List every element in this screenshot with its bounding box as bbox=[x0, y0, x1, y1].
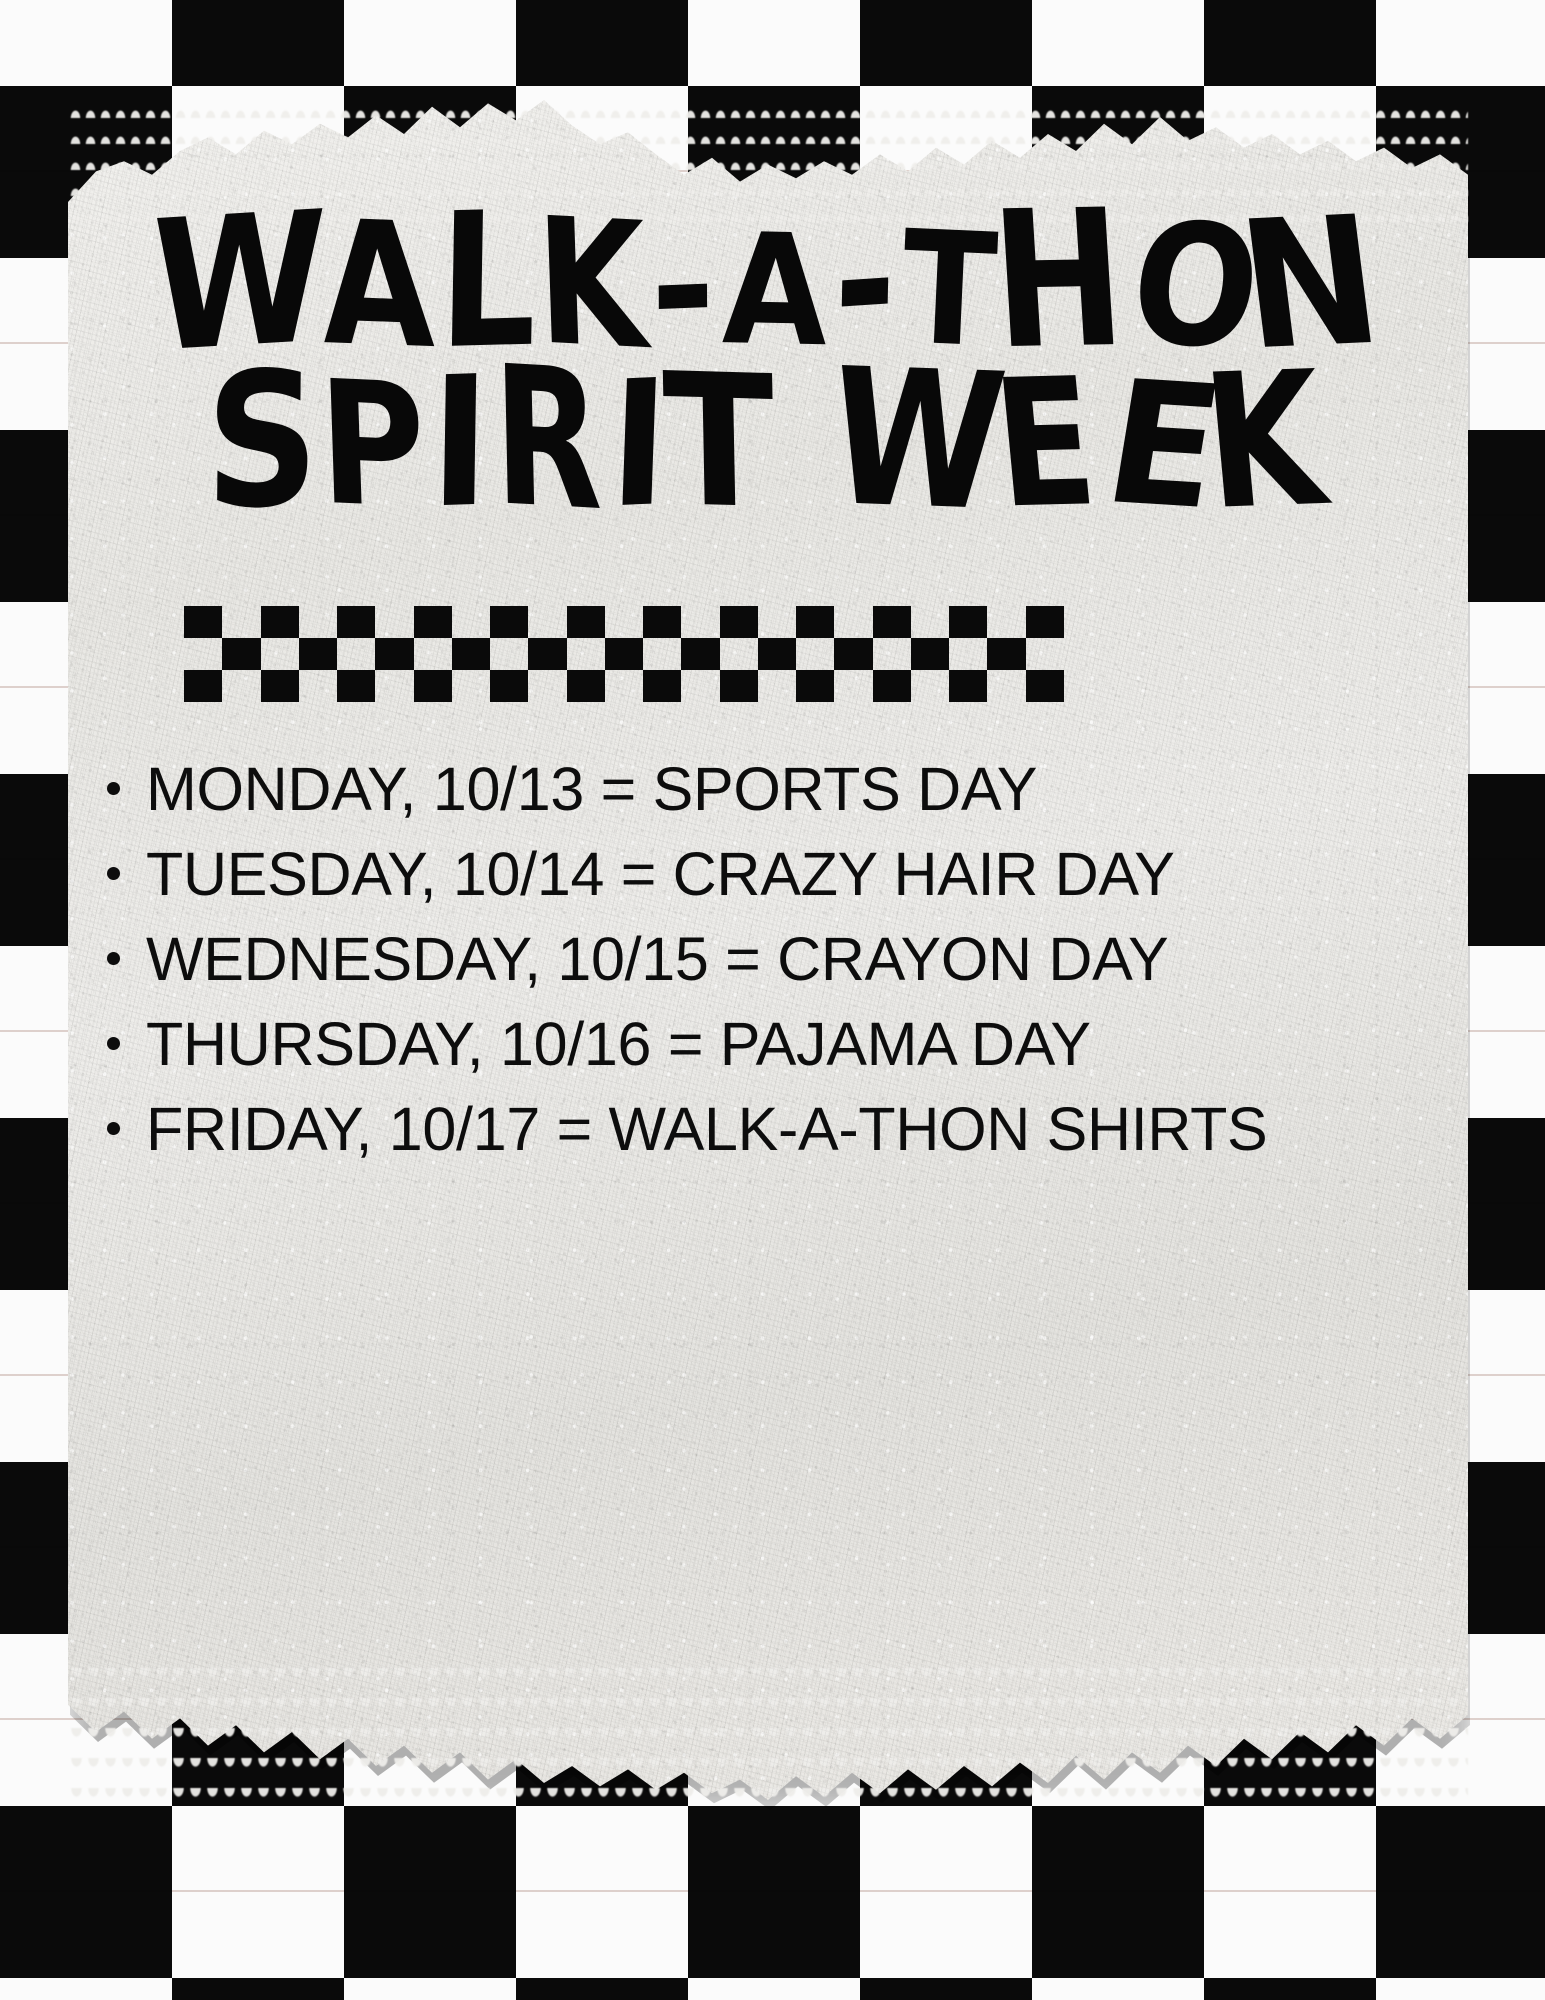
checker-cell-dark bbox=[605, 638, 643, 670]
checker-cell-dark bbox=[490, 606, 528, 638]
checker-cell-dark bbox=[375, 638, 413, 670]
page-title: WALK-A-THON SPIRIT WEEK bbox=[68, 220, 1468, 524]
title-line-spirit-week: SPIRIT WEEK bbox=[68, 378, 1468, 524]
checker-cell-dark bbox=[452, 638, 490, 670]
checker-cell-dark bbox=[414, 606, 452, 638]
checker-row bbox=[184, 638, 1064, 670]
checker-cell-light bbox=[414, 638, 452, 670]
schedule-item-text: WEDNESDAY, 10/15 = CRAYON DAY bbox=[146, 925, 1168, 993]
checker-cell-dark bbox=[720, 606, 758, 638]
checker-cell-light bbox=[873, 638, 911, 670]
bullet-icon bbox=[107, 952, 120, 965]
title-glyph: E bbox=[988, 358, 1104, 529]
checker-row bbox=[184, 606, 1064, 638]
checker-cell-dark bbox=[873, 670, 911, 702]
checker-cell-light bbox=[681, 670, 719, 702]
list-item: FRIDAY, 10/17 = WALK-A-THON SHIRTS bbox=[88, 1095, 1468, 1164]
checker-cell-dark bbox=[911, 638, 949, 670]
checker-cell-light bbox=[452, 670, 490, 702]
checker-cell-dark bbox=[1026, 670, 1064, 702]
checker-cell-dark bbox=[184, 606, 222, 638]
bullet-icon bbox=[107, 1122, 120, 1135]
list-item: THURSDAY, 10/16 = PAJAMA DAY bbox=[88, 1010, 1468, 1079]
checker-cell-dark bbox=[261, 606, 299, 638]
checker-cell-light bbox=[337, 638, 375, 670]
bullet-icon bbox=[107, 782, 120, 795]
checker-cell-dark bbox=[567, 670, 605, 702]
checker-cell-light bbox=[375, 670, 413, 702]
bullet-icon bbox=[107, 867, 120, 880]
checker-cell-dark bbox=[643, 606, 681, 638]
checker-cell-light bbox=[222, 606, 260, 638]
checker-cell-dark bbox=[720, 670, 758, 702]
checker-cell-dark bbox=[873, 606, 911, 638]
checker-cell-light bbox=[299, 670, 337, 702]
checker-cell-dark bbox=[528, 638, 566, 670]
checker-cell-dark bbox=[490, 670, 528, 702]
checker-cell-light bbox=[949, 638, 987, 670]
checker-cell-dark bbox=[758, 638, 796, 670]
checker-cell-dark bbox=[681, 638, 719, 670]
checker-cell-dark bbox=[299, 638, 337, 670]
bullet-icon bbox=[107, 1037, 120, 1050]
torn-paper-poster: WALK-A-THON SPIRIT WEEK MONDAY, 10/13 = … bbox=[60, 92, 1472, 1822]
checker-cell-dark bbox=[337, 670, 375, 702]
checker-cell-light bbox=[375, 606, 413, 638]
title-glyph bbox=[767, 365, 829, 528]
title-glyph: S bbox=[204, 349, 322, 533]
checker-cell-light bbox=[528, 670, 566, 702]
schedule-item-text: FRIDAY, 10/17 = WALK-A-THON SHIRTS bbox=[146, 1095, 1267, 1163]
checker-cell-dark bbox=[949, 606, 987, 638]
title-glyph: K bbox=[1197, 351, 1332, 533]
list-item: WEDNESDAY, 10/15 = CRAYON DAY bbox=[88, 925, 1468, 994]
title-glyph: R bbox=[492, 344, 605, 534]
checker-cell-light bbox=[987, 670, 1025, 702]
poster-content: WALK-A-THON SPIRIT WEEK MONDAY, 10/13 = … bbox=[68, 100, 1468, 1800]
title-glyph: P bbox=[317, 361, 430, 529]
title-glyph: I bbox=[429, 356, 494, 530]
checker-row bbox=[184, 670, 1064, 702]
checker-cell-light bbox=[796, 638, 834, 670]
checker-cell-light bbox=[261, 638, 299, 670]
checker-cell-light bbox=[184, 638, 222, 670]
list-item: TUESDAY, 10/14 = CRAZY HAIR DAY bbox=[88, 840, 1468, 909]
schedule-item-text: MONDAY, 10/13 = SPORTS DAY bbox=[146, 755, 1037, 823]
checker-cell-light bbox=[528, 606, 566, 638]
checker-cell-dark bbox=[1026, 606, 1064, 638]
checker-cell-light bbox=[299, 606, 337, 638]
checker-cell-dark bbox=[796, 606, 834, 638]
checker-cell-light bbox=[605, 606, 643, 638]
checker-cell-dark bbox=[796, 670, 834, 702]
checker-cell-dark bbox=[949, 670, 987, 702]
title-glyph: T bbox=[661, 353, 777, 531]
checker-cell-light bbox=[222, 670, 260, 702]
checker-cell-dark bbox=[222, 638, 260, 670]
checkered-divider bbox=[184, 606, 1064, 702]
checker-cell-dark bbox=[834, 638, 872, 670]
checker-cell-dark bbox=[261, 670, 299, 702]
checker-cell-light bbox=[911, 606, 949, 638]
checker-cell-dark bbox=[184, 670, 222, 702]
checker-cell-dark bbox=[987, 638, 1025, 670]
checker-cell-light bbox=[911, 670, 949, 702]
checker-cell-light bbox=[567, 638, 605, 670]
checker-cell-light bbox=[1026, 638, 1064, 670]
checker-cell-light bbox=[758, 606, 796, 638]
title-glyph: W bbox=[822, 347, 1013, 534]
list-item: MONDAY, 10/13 = SPORTS DAY bbox=[88, 755, 1468, 824]
checker-cell-light bbox=[758, 670, 796, 702]
checker-cell-light bbox=[681, 606, 719, 638]
checker-cell-light bbox=[834, 606, 872, 638]
checker-cell-dark bbox=[567, 606, 605, 638]
checker-cell-dark bbox=[414, 670, 452, 702]
checker-cell-light bbox=[834, 670, 872, 702]
schedule-item-text: THURSDAY, 10/16 = PAJAMA DAY bbox=[146, 1010, 1091, 1078]
spirit-week-schedule-list: MONDAY, 10/13 = SPORTS DAYTUESDAY, 10/14… bbox=[88, 755, 1468, 1180]
checker-cell-dark bbox=[643, 670, 681, 702]
checker-cell-light bbox=[490, 638, 528, 670]
checker-cell-light bbox=[643, 638, 681, 670]
checker-cell-light bbox=[987, 606, 1025, 638]
checker-cell-light bbox=[720, 638, 758, 670]
checker-cell-dark bbox=[337, 606, 375, 638]
checker-cell-light bbox=[452, 606, 490, 638]
checker-cell-light bbox=[605, 670, 643, 702]
schedule-item-text: TUESDAY, 10/14 = CRAZY HAIR DAY bbox=[146, 840, 1175, 908]
